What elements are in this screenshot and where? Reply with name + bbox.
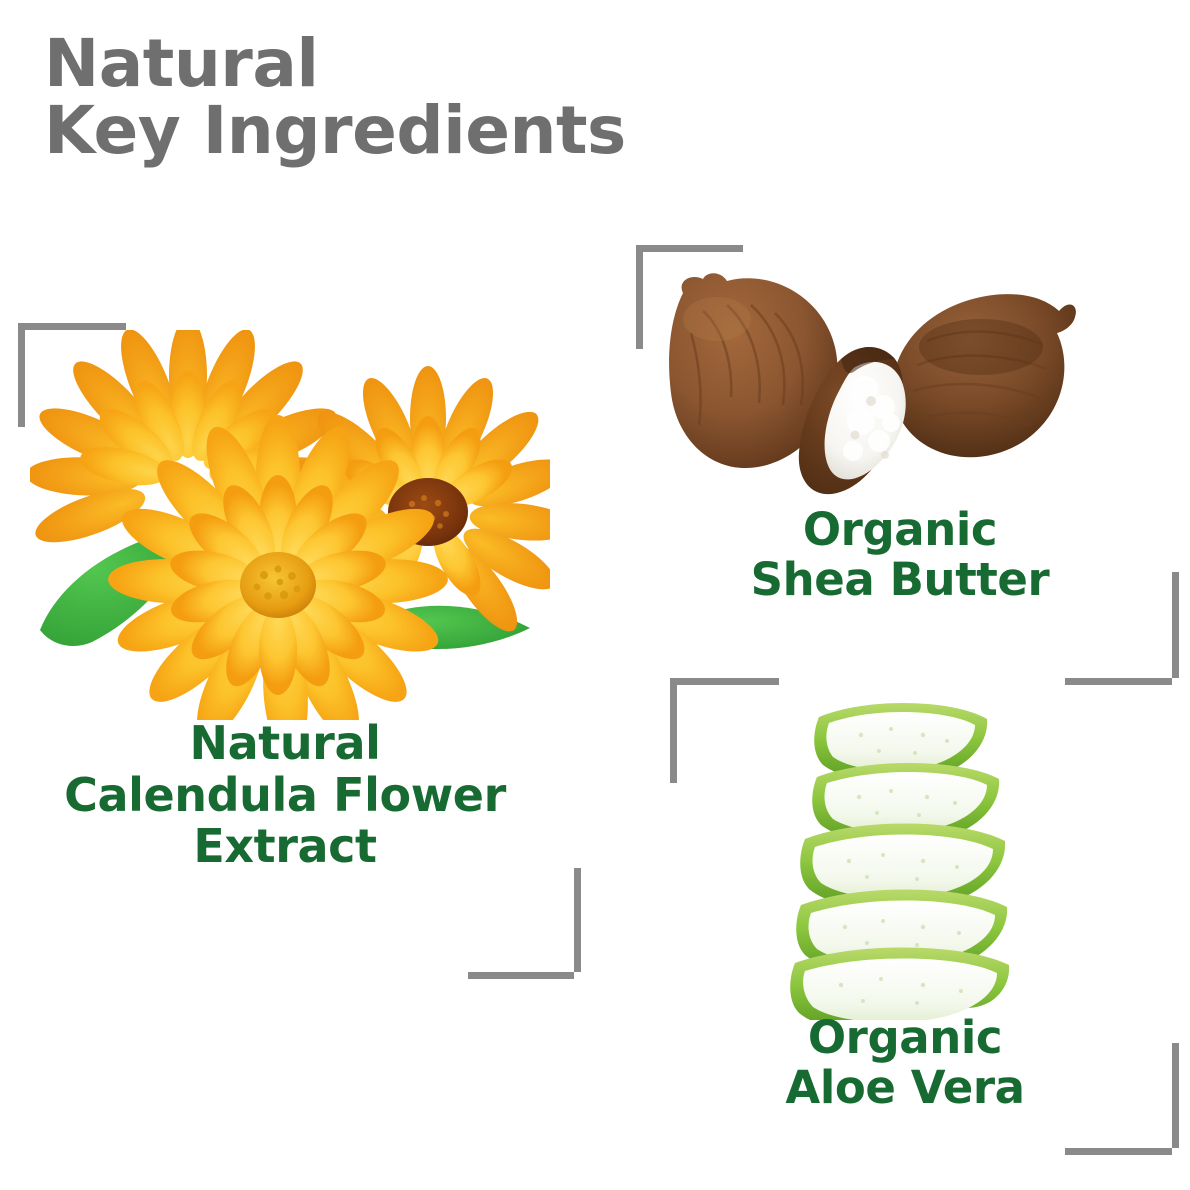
bracket-aloe-top-left (670, 678, 786, 790)
shea-nuts-illustration (655, 255, 1085, 525)
bracket-calendula-bottom-right (468, 868, 581, 979)
caption-aloe-vera: Organic Aloe Vera (710, 1013, 1100, 1114)
bracket-arm-horizontal (636, 245, 743, 252)
caption-calendula: Natural Calendula Flower Extract (20, 718, 550, 873)
bracket-arm-vertical (1172, 572, 1179, 678)
bracket-arm-vertical (18, 323, 25, 427)
page-title: Natural Key Ingredients (44, 30, 804, 165)
bracket-arm-horizontal (468, 972, 574, 979)
calendula-flowers-illustration (30, 330, 550, 720)
shea-nut-right (893, 294, 1076, 457)
bracket-arm-horizontal (1065, 1148, 1172, 1155)
bracket-arm-vertical (574, 868, 581, 972)
bracket-arm-vertical (670, 678, 677, 783)
aloe-slice (790, 947, 1009, 1020)
aloe-vera-slices-illustration (775, 695, 1035, 1020)
bracket-arm-vertical (636, 245, 643, 349)
infographic-canvas: Natural Key Ingredients (0, 0, 1190, 1190)
caption-shea-butter: Organic Shea Butter (700, 505, 1100, 606)
bracket-arm-horizontal (1065, 678, 1172, 685)
bracket-arm-horizontal (18, 323, 126, 330)
bracket-arm-horizontal (670, 678, 779, 685)
bracket-arm-vertical (1172, 1043, 1179, 1148)
